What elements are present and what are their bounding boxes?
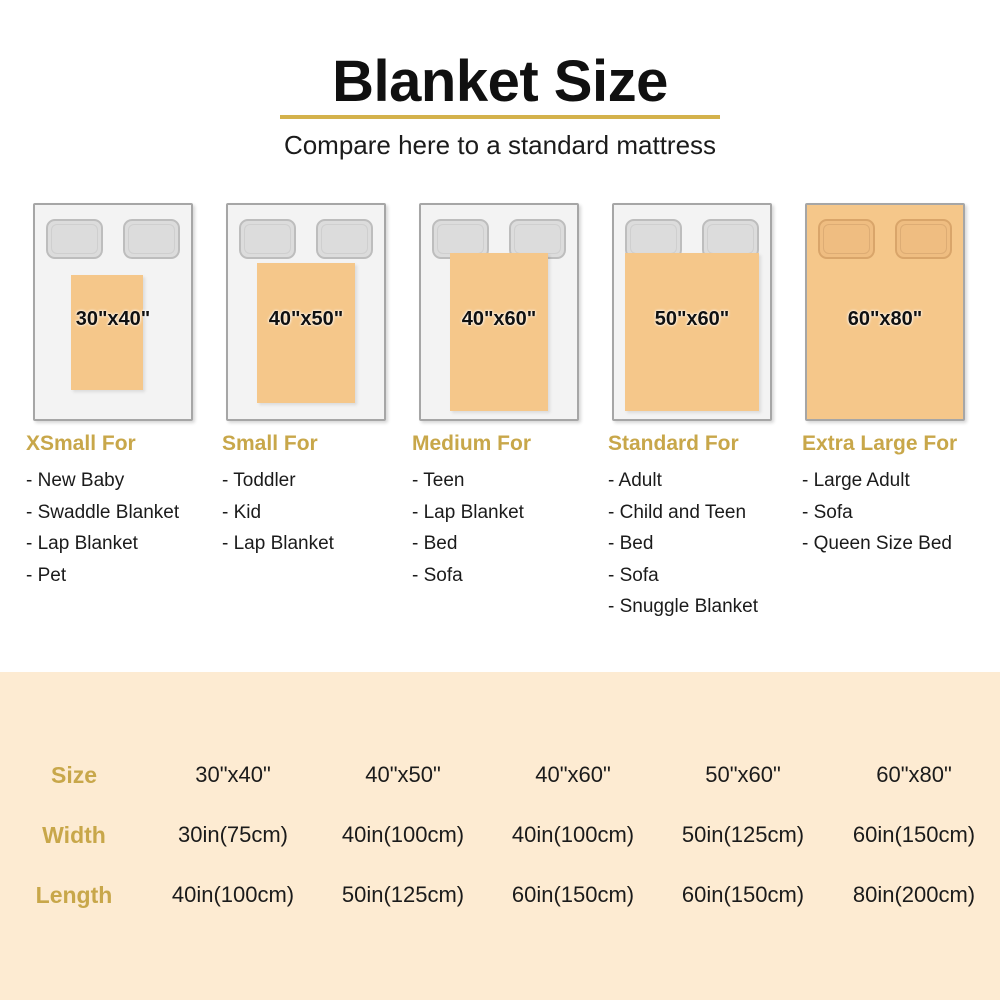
specification-table: Size 30"x40" 40"x50" 40"x60" 50"x60" 60"… bbox=[0, 762, 1000, 909]
pillow-icon bbox=[895, 219, 952, 259]
blanket-overlay bbox=[625, 253, 759, 411]
bed-diagram-standard: 50"x60" bbox=[612, 203, 772, 421]
title-underline-rule bbox=[280, 115, 720, 119]
page-subtitle: Compare here to a standard mattress bbox=[0, 130, 1000, 161]
blanket-size-infographic: Blanket Size Compare here to a standard … bbox=[0, 0, 1000, 1000]
list-item: - Lap Blanket bbox=[412, 497, 612, 529]
list-item: - Teen bbox=[412, 465, 612, 497]
list-item: - Queen Size Bed bbox=[802, 528, 1000, 560]
list-item: - Bed bbox=[412, 528, 612, 560]
list-item: - Kid bbox=[222, 497, 422, 529]
category-column-extra-large: Extra Large For - Large Adult - Sofa - Q… bbox=[802, 432, 1000, 560]
bed-diagram-row: 30"x40" 40"x50" 40"x60" 50"x60" 60"x80" bbox=[0, 203, 1000, 425]
list-item: - Sofa bbox=[608, 560, 808, 592]
bed-diagram-small: 40"x50" bbox=[226, 203, 386, 421]
page-title: Blanket Size bbox=[332, 52, 668, 111]
list-item: - Swaddle Blanket bbox=[26, 497, 226, 529]
category-use-list: - Adult - Child and Teen - Bed - Sofa - … bbox=[608, 465, 808, 623]
bed-size-label: 60"x80" bbox=[807, 308, 963, 331]
list-item: - Snuggle Blanket bbox=[608, 591, 808, 623]
pillow-icon bbox=[123, 219, 180, 259]
pillow-icon bbox=[239, 219, 296, 259]
list-item: - Adult bbox=[608, 465, 808, 497]
list-item: - Sofa bbox=[802, 497, 1000, 529]
list-item: - Bed bbox=[608, 528, 808, 560]
bed-size-label: 50"x60" bbox=[614, 308, 770, 331]
pillow-icon bbox=[818, 219, 875, 259]
bed-diagram-medium: 40"x60" bbox=[419, 203, 579, 421]
category-use-list: - Teen - Lap Blanket - Bed - Sofa bbox=[412, 465, 612, 591]
table-row-header-size: Size bbox=[0, 762, 148, 789]
pillow-icon bbox=[316, 219, 373, 259]
table-cell: 40"x60" bbox=[488, 762, 658, 789]
table-row-header-length: Length bbox=[0, 882, 148, 909]
category-title: Standard For bbox=[608, 432, 808, 456]
list-item: - Sofa bbox=[412, 560, 612, 592]
category-title: XSmall For bbox=[26, 432, 226, 456]
category-column-medium: Medium For - Teen - Lap Blanket - Bed - … bbox=[412, 432, 612, 591]
list-item: - Lap Blanket bbox=[26, 528, 226, 560]
category-column-xsmall: XSmall For - New Baby - Swaddle Blanket … bbox=[26, 432, 226, 591]
table-cell: 50in(125cm) bbox=[318, 882, 488, 909]
table-cell: 60in(150cm) bbox=[658, 882, 828, 909]
table-cell: 60"x80" bbox=[828, 762, 1000, 789]
category-use-list: - New Baby - Swaddle Blanket - Lap Blank… bbox=[26, 465, 226, 591]
table-cell: 40in(100cm) bbox=[148, 882, 318, 909]
table-cell: 40in(100cm) bbox=[488, 822, 658, 849]
header: Blanket Size Compare here to a standard … bbox=[0, 52, 1000, 161]
pillow-icon bbox=[46, 219, 103, 259]
table-cell: 60in(150cm) bbox=[488, 882, 658, 909]
blanket-overlay bbox=[450, 253, 548, 411]
bed-diagram-extra-large: 60"x80" bbox=[805, 203, 965, 421]
bed-size-label: 40"x50" bbox=[228, 308, 384, 331]
category-title: Extra Large For bbox=[802, 432, 1000, 456]
blanket-overlay bbox=[71, 275, 143, 390]
category-title: Small For bbox=[222, 432, 422, 456]
category-column-standard: Standard For - Adult - Child and Teen - … bbox=[608, 432, 808, 623]
table-cell: 40in(100cm) bbox=[318, 822, 488, 849]
blanket-overlay bbox=[257, 263, 355, 403]
category-column-small: Small For - Toddler - Kid - Lap Blanket bbox=[222, 432, 422, 560]
specification-table-section: Size 30"x40" 40"x50" 40"x60" 50"x60" 60"… bbox=[0, 672, 1000, 1000]
bed-size-label: 40"x60" bbox=[421, 308, 577, 331]
table-row-header-width: Width bbox=[0, 822, 148, 849]
table-cell: 30in(75cm) bbox=[148, 822, 318, 849]
table-cell: 60in(150cm) bbox=[828, 822, 1000, 849]
table-cell: 50in(125cm) bbox=[658, 822, 828, 849]
category-use-list: - Large Adult - Sofa - Queen Size Bed bbox=[802, 465, 1000, 560]
table-cell: 40"x50" bbox=[318, 762, 488, 789]
table-cell: 80in(200cm) bbox=[828, 882, 1000, 909]
list-item: - Large Adult bbox=[802, 465, 1000, 497]
table-cell: 50"x60" bbox=[658, 762, 828, 789]
category-use-list: - Toddler - Kid - Lap Blanket bbox=[222, 465, 422, 560]
bed-diagram-xsmall: 30"x40" bbox=[33, 203, 193, 421]
category-title: Medium For bbox=[412, 432, 612, 456]
table-cell: 30"x40" bbox=[148, 762, 318, 789]
bed-size-label: 30"x40" bbox=[35, 308, 191, 331]
list-item: - New Baby bbox=[26, 465, 226, 497]
list-item: - Pet bbox=[26, 560, 226, 592]
list-item: - Lap Blanket bbox=[222, 528, 422, 560]
list-item: - Toddler bbox=[222, 465, 422, 497]
list-item: - Child and Teen bbox=[608, 497, 808, 529]
